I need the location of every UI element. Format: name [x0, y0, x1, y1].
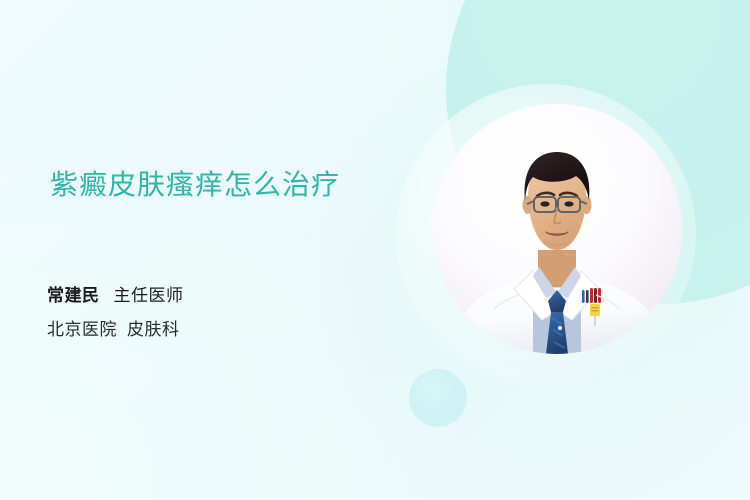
- doctor-name: 常建民: [47, 286, 100, 305]
- doctor-portrait-illustration: [432, 104, 682, 354]
- doctor-affiliation-line: 北京医院皮肤科: [47, 315, 180, 340]
- doctor-portrait-avatar: [432, 104, 682, 354]
- doctor-intro-card: 紫癜皮肤瘙痒怎么治疗 常建民主任医师 北京医院皮肤科: [0, 0, 750, 500]
- doctor-department: 皮肤科: [127, 320, 180, 339]
- doctor-professional-title: 主任医师: [114, 286, 184, 305]
- doctor-hospital: 北京医院: [47, 320, 117, 339]
- doctor-identity-line: 常建民主任医师: [47, 281, 184, 306]
- page-title: 紫癜皮肤瘙痒怎么治疗: [50, 163, 340, 203]
- decorative-mint-circle-small: [409, 369, 467, 427]
